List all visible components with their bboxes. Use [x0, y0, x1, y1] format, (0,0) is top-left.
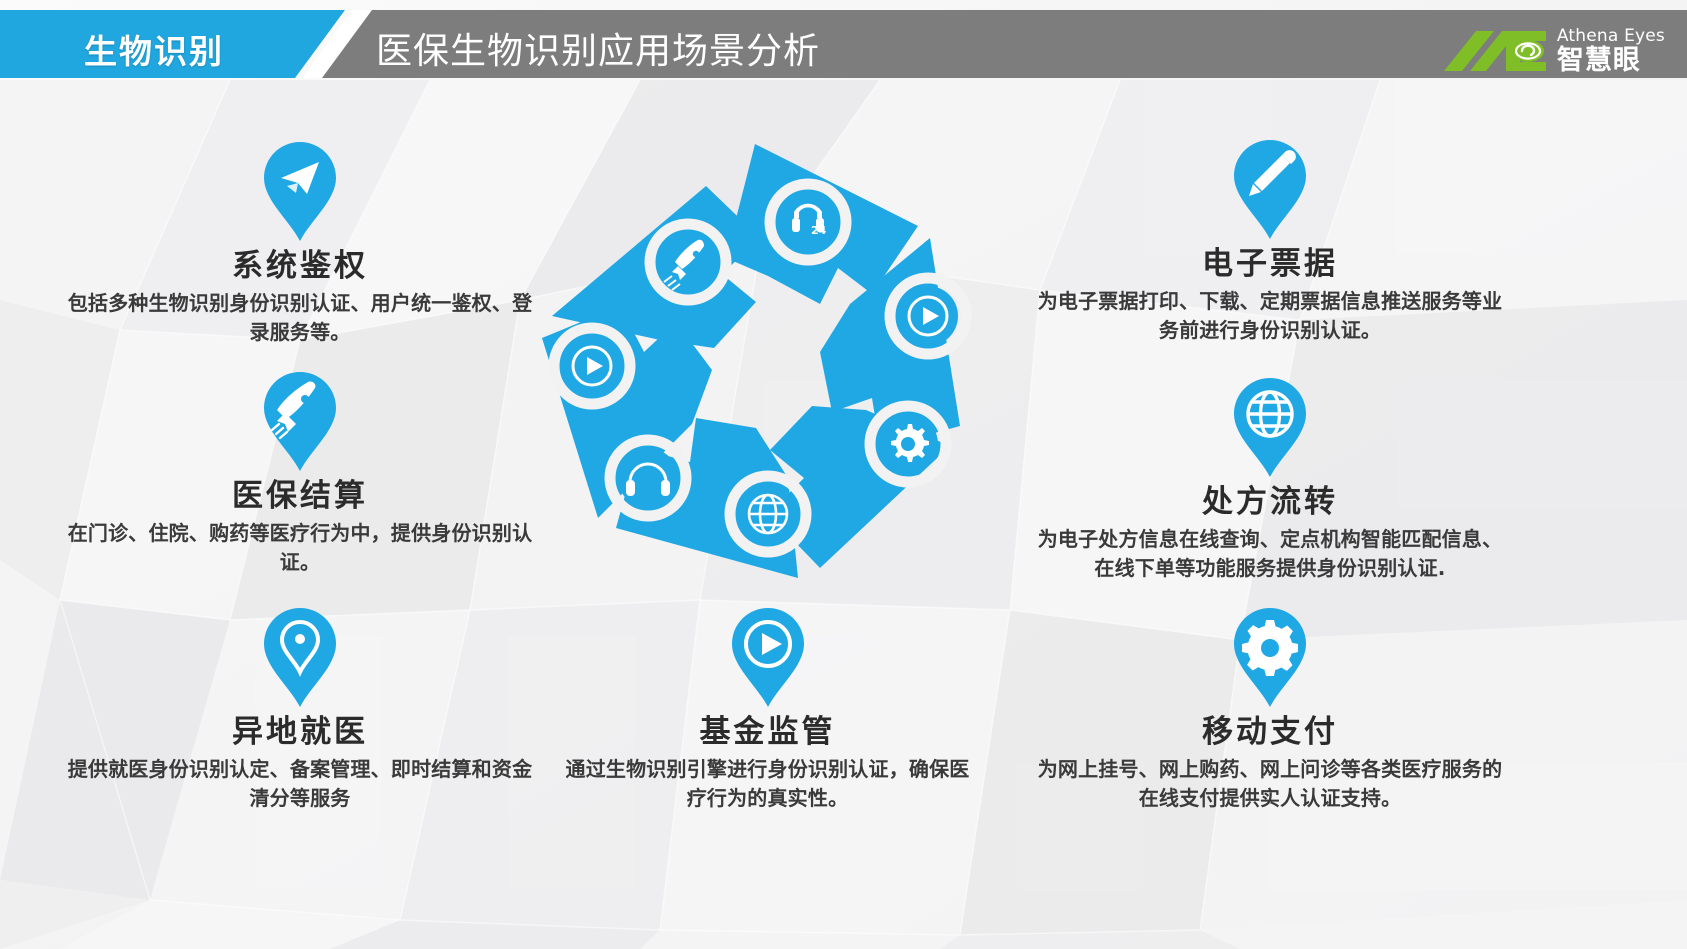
feature-title: 处方流转: [1035, 482, 1505, 522]
globe-icon: [1233, 378, 1307, 478]
feature-description: 为电子票据打印、下载、定期票据信息推送服务等业务前进行身份识别认证。: [1035, 287, 1505, 345]
feature-mobile-payment[interactable]: 移动支付 为网上挂号、网上购药、网上问诊等各类医疗服务的在线支付提供实人认证支持…: [1035, 608, 1505, 813]
feature-e-invoice[interactable]: 电子票据 为电子票据打印、下载、定期票据信息推送服务等业务前进行身份识别认证。: [1035, 140, 1505, 345]
feature-description: 包括多种生物识别身份识别认证、用户统一鉴权、登录服务等。: [65, 289, 535, 347]
feature-description: 通过生物识别引擎进行身份识别认证，确保医疗行为的真实性。: [560, 755, 975, 813]
feature-prescription-circulation[interactable]: 处方流转 为电子处方信息在线查询、定点机构智能匹配信息、在线下单等功能服务提供身…: [1035, 378, 1505, 583]
play-circle-icon: [731, 608, 805, 708]
slide-root: 生物识别 医保生物识别应用场景分析 Athena Eyes 智慧眼: [0, 0, 1687, 949]
page-title: 医保生物识别应用场景分析: [376, 28, 820, 76]
logo-text-block: Athena Eyes 智慧眼: [1557, 28, 1665, 74]
feature-title: 基金监管: [560, 712, 975, 752]
brand-logo: Athena Eyes 智慧眼: [1442, 28, 1665, 74]
feature-description: 为网上挂号、网上购药、网上问诊等各类医疗服务的在线支付提供实人认证支持。: [1035, 755, 1505, 813]
paper-plane-icon: [263, 142, 337, 242]
athena-eyes-mark-icon: [1442, 29, 1550, 73]
pencil-icon: [1233, 140, 1307, 240]
header-tag-label: 生物识别: [34, 32, 274, 72]
gear-icon: [1233, 608, 1307, 708]
feature-description: 在门诊、住院、购药等医疗行为中，提供身份识别认证。: [65, 519, 535, 577]
feature-system-auth[interactable]: 系统鉴权 包括多种生物识别身份识别认证、用户统一鉴权、登录服务等。: [65, 142, 535, 347]
svg-text:24: 24: [811, 224, 827, 237]
feature-title: 移动支付: [1035, 712, 1505, 752]
slide-header: 生物识别 医保生物识别应用场景分析 Athena Eyes 智慧眼: [0, 10, 1687, 78]
feature-title: 异地就医: [65, 712, 535, 752]
feature-title: 电子票据: [1035, 244, 1505, 284]
feature-remote-medical[interactable]: 异地就医 提供就医身份识别认定、备案管理、即时结算和资金清分等服务: [65, 608, 535, 813]
feature-title: 医保结算: [65, 476, 535, 516]
feature-insurance-settlement[interactable]: 医保结算 在门诊、住院、购药等医疗行为中，提供身份识别认证。: [65, 372, 535, 577]
logo-chinese-name: 智慧眼: [1557, 47, 1665, 74]
feature-description: 为电子处方信息在线查询、定点机构智能匹配信息、在线下单等功能服务提供身份识别认证…: [1035, 525, 1505, 583]
node-gear-icon: [891, 424, 929, 462]
feature-fund-supervision[interactable]: 基金监管 通过生物识别引擎进行身份识别认证，确保医疗行为的真实性。: [560, 608, 975, 813]
logo-english-name: Athena Eyes: [1557, 28, 1665, 45]
hexagonal-pinwheel-diagram: 24: [520, 126, 990, 586]
feature-title: 系统鉴权: [65, 246, 535, 286]
feature-description: 提供就医身份识别认定、备案管理、即时结算和资金清分等服务: [65, 755, 535, 813]
map-pin-icon: [263, 608, 337, 708]
rocket-icon: [263, 372, 337, 472]
